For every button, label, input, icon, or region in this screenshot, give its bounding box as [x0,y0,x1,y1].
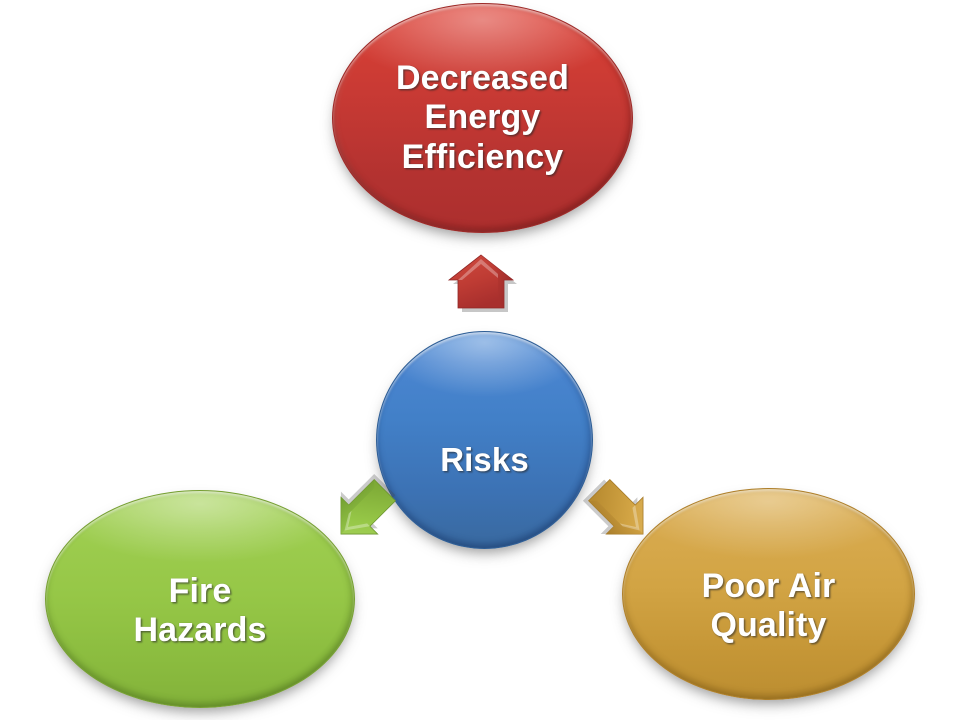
node-risks-center[interactable]: Risks [376,331,593,549]
arrow-down-right-icon [578,468,660,552]
node-decreased-energy-efficiency[interactable]: Decreased Energy Efficiency [332,3,633,233]
node-label-risks: Risks [434,441,535,479]
arrow-up-icon [448,252,522,314]
node-label-fire-hazards: Fire Hazards [128,572,273,651]
diagram-canvas: Decreased Energy Efficiency Fire Hazards… [0,0,960,720]
arrow-down-left-icon [324,468,406,552]
node-label-decreased-energy-efficiency: Decreased Energy Efficiency [390,59,575,177]
node-label-poor-air-quality: Poor Air Quality [696,567,842,646]
node-poor-air-quality[interactable]: Poor Air Quality [622,488,915,700]
node-fire-hazards[interactable]: Fire Hazards [45,490,355,708]
